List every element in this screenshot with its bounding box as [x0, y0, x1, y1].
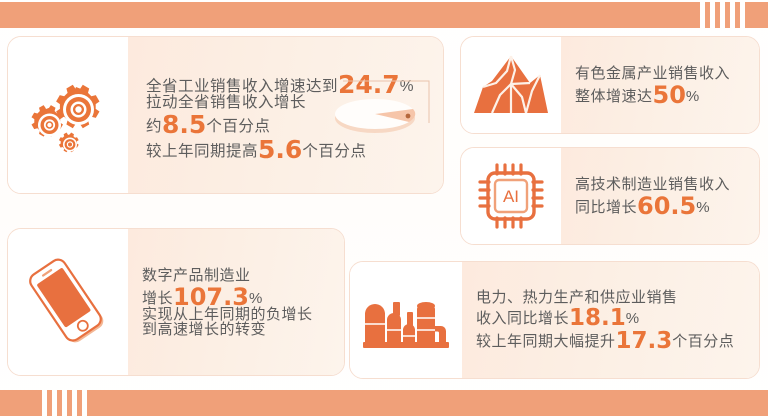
stat-value: 5.6: [258, 137, 302, 162]
metals-text-pane: 有色金属产业销售收入整体增速达50%: [561, 37, 759, 133]
stat-text: 拉动全省销售收入增长: [146, 95, 306, 111]
stripe: [710, 2, 715, 28]
stat-line: 有色金属产业销售收入: [575, 66, 759, 81]
stat-value: 50: [653, 83, 686, 107]
card-metals: 有色金属产业销售收入整体增速达50%: [460, 36, 760, 134]
stat-value: 18.1: [569, 307, 626, 330]
stat-value: 17.3: [616, 330, 673, 353]
stat-line: 数字产品制造业: [142, 268, 344, 283]
power-lines: 电力、热力生产和供应业销售收入同比增长18.1%较上年同期大幅提升17.3个百分…: [476, 290, 759, 351]
digital-lines: 数字产品制造业增长107.3%实现从上年同期的负增长到高速增长的转变: [142, 268, 344, 337]
card-industry: 全省工业销售收入增速达到24.7%拉动全省销售收入增长约8.5个百分点较上年同期…: [7, 36, 444, 194]
stripe: [730, 2, 735, 28]
stripe: [52, 390, 57, 416]
stat-unit: %: [686, 89, 700, 104]
stat-text: 较上年同期提高: [146, 144, 258, 160]
hightech-lines: 高技术制造业销售收入同比增长60.5%: [575, 177, 759, 216]
stat-text: 电力、热力生产和供应业销售: [476, 290, 678, 305]
stat-text: 到高速增长的转变: [142, 322, 266, 337]
bottom-decor-bar: [0, 390, 768, 416]
stat-text: 同比增长: [575, 200, 637, 215]
stat-value: 107.3: [173, 285, 249, 309]
stat-line: 高技术制造业销售收入: [575, 177, 759, 192]
stat-text: 较上年同期大幅提升: [476, 334, 616, 349]
stripe: [82, 390, 87, 416]
bottom-stripe-group: [42, 390, 87, 416]
stat-text: 全省工业销售收入增速达到: [146, 79, 338, 95]
power-text-pane: 电力、热力生产和供应业销售收入同比增长18.1%较上年同期大幅提升17.3个百分…: [462, 262, 759, 378]
stat-text: 整体增速达: [575, 89, 653, 104]
smartphone-icon: [20, 254, 116, 350]
stat-text: 有色金属产业销售收入: [575, 66, 730, 81]
pie-chart-decoration: [325, 77, 437, 139]
stat-unit: %: [249, 291, 263, 306]
card-power: 电力、热力生产和供应业销售收入同比增长18.1%较上年同期大幅提升17.3个百分…: [349, 261, 760, 379]
stat-unit: 个百分点: [302, 144, 366, 160]
card-digital: 数字产品制造业增长107.3%实现从上年同期的负增长到高速增长的转变: [7, 228, 345, 376]
stat-line: 整体增速达50%: [575, 81, 759, 105]
stat-value: 8.5: [162, 112, 206, 137]
stat-line: 电力、热力生产和供应业销售: [476, 290, 759, 305]
stripe: [42, 390, 47, 416]
stat-unit: %: [696, 200, 710, 215]
stat-line: 增长107.3%: [142, 283, 344, 307]
ai-chip-icon-pane-wrapper: AI 高技术制造业销售收入同比增长60.5%: [460, 147, 760, 245]
stat-line: 较上年同期提高5.6个百分点: [146, 135, 443, 160]
stripe: [72, 390, 77, 416]
stripe: [720, 2, 725, 28]
mountain-icon-pane: [461, 37, 561, 133]
top-stripe-group: [700, 2, 745, 28]
factory-icon-pane: [350, 262, 462, 378]
metals-lines: 有色金属产业销售收入整体增速达50%: [575, 66, 759, 105]
stat-line: 收入同比增长18.1%: [476, 305, 759, 328]
gears-icon-pane: [8, 37, 128, 193]
stripe: [700, 2, 705, 28]
stat-text: 约: [146, 119, 162, 135]
stat-text: 收入同比增长: [476, 311, 569, 326]
mountain-icon: [474, 53, 548, 117]
smartphone-icon-pane: [8, 229, 128, 375]
stat-unit: %: [626, 311, 640, 326]
stat-line: 较上年同期大幅提升17.3个百分点: [476, 328, 759, 351]
stat-text: 高技术制造业销售收入: [575, 177, 730, 192]
stat-unit: 个百分点: [672, 334, 734, 349]
stripe: [740, 2, 745, 28]
svg-text:AI: AI: [503, 187, 519, 206]
factory-icon: [363, 284, 449, 356]
ai-chip-icon-pane: AI: [461, 148, 561, 244]
industry-text-pane: 全省工业销售收入增速达到24.7%拉动全省销售收入增长约8.5个百分点较上年同期…: [128, 37, 443, 193]
hightech-text-pane: 高技术制造业销售收入同比增长60.5%: [561, 148, 759, 244]
stat-line: 同比增长60.5%: [575, 192, 759, 216]
stat-unit: 个百分点: [206, 119, 270, 135]
digital-text-pane: 数字产品制造业增长107.3%实现从上年同期的负增长到高速增长的转变: [128, 229, 344, 375]
stat-line: 到高速增长的转变: [142, 322, 344, 337]
gears-icon: [20, 67, 116, 163]
stat-value: 60.5: [637, 194, 696, 218]
stat-text: 数字产品制造业: [142, 268, 251, 283]
top-decor-bar: [0, 2, 768, 28]
stripe: [62, 390, 67, 416]
stat-text: 增长: [142, 291, 173, 306]
ai-chip-icon: AI: [476, 161, 546, 231]
infographic-canvas: 全省工业销售收入增速达到24.7%拉动全省销售收入增长约8.5个百分点较上年同期…: [0, 0, 768, 418]
